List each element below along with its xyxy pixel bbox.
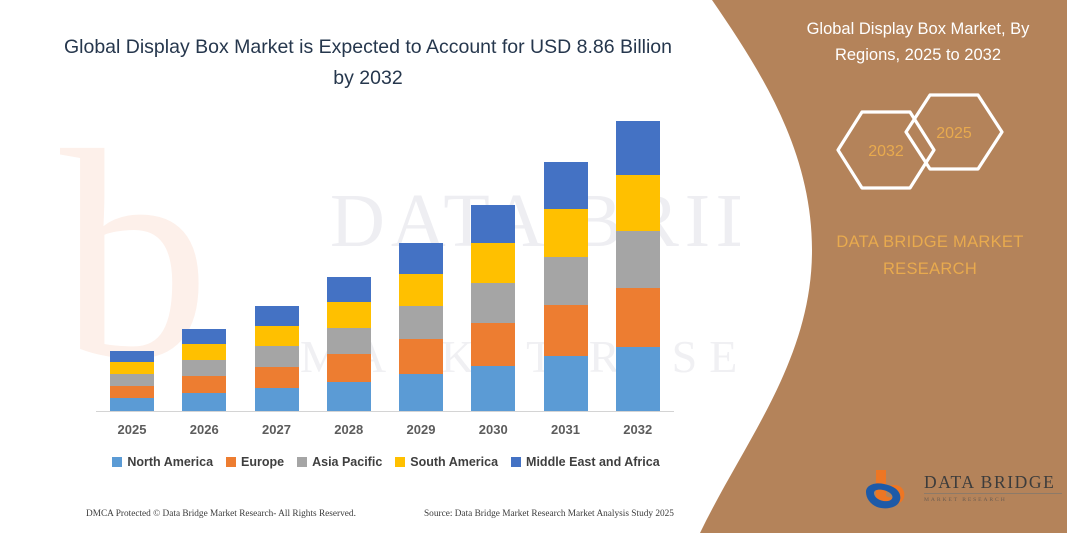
x-axis-labels: 20252026202720282029203020312032 — [96, 414, 674, 440]
x-tick-2027: 2027 — [241, 422, 313, 437]
plot-area — [96, 110, 674, 412]
x-tick-2026: 2026 — [168, 422, 240, 437]
legend-swatch-icon — [112, 457, 122, 467]
bar-segment-2028-middle-east-and-africa — [327, 277, 371, 302]
logo-mark-icon — [862, 468, 922, 514]
footer: DMCA Protected © Data Bridge Market Rese… — [0, 505, 700, 529]
bar-segment-2030-europe — [471, 323, 515, 366]
footer-source: Source: Data Bridge Market Research Mark… — [424, 509, 674, 519]
x-tick-2031: 2031 — [530, 422, 602, 437]
bar-segment-2026-south-america — [182, 344, 226, 360]
bar-segment-2026-asia-pacific — [182, 360, 226, 376]
bar-segment-2028-north-america — [327, 382, 371, 411]
bar-segment-2026-middle-east-and-africa — [182, 329, 226, 344]
legend-swatch-icon — [297, 457, 307, 467]
infographic-root: b DATA BRIDGE MARKET RESEARCH Global Dis… — [0, 0, 1067, 533]
page-title: Global Display Box Market is Expected to… — [62, 32, 674, 94]
bar-segment-2027-south-america — [255, 326, 299, 346]
bar-segment-2031-asia-pacific — [544, 257, 588, 306]
brand-line-1: DATA BRIDGE MARKET — [790, 229, 1067, 256]
bar-segment-2031-europe — [544, 305, 588, 356]
hex-2025-label: 2025 — [936, 125, 972, 142]
bar-segment-2027-middle-east-and-africa — [255, 306, 299, 326]
bar-2026 — [182, 329, 226, 411]
bar-segment-2030-middle-east-and-africa — [471, 205, 515, 244]
bar-segment-2031-north-america — [544, 356, 588, 411]
legend-label: Asia Pacific — [312, 455, 382, 469]
hexagon-group: 2032 2025 — [820, 88, 1020, 200]
brand-line-2: RESEARCH — [790, 256, 1067, 283]
bar-segment-2030-south-america — [471, 243, 515, 283]
bar-segment-2031-south-america — [544, 209, 588, 256]
bar-segment-2029-asia-pacific — [399, 306, 443, 339]
bar-segment-2025-north-america — [110, 398, 154, 411]
bar-segment-2026-north-america — [182, 393, 226, 411]
bar-2030 — [471, 205, 515, 411]
legend-item-middle-east-and-africa[interactable]: Middle East and Africa — [511, 455, 660, 469]
bar-segment-2027-asia-pacific — [255, 346, 299, 367]
bar-segment-2029-south-america — [399, 274, 443, 306]
bar-2032 — [616, 121, 660, 411]
bar-segment-2029-north-america — [399, 374, 443, 411]
bar-2028 — [327, 277, 371, 411]
bar-segment-2025-south-america — [110, 362, 154, 373]
bar-segment-2029-middle-east-and-africa — [399, 243, 443, 275]
logo-text: DATA BRIDGE MARKET RESEARCH — [924, 472, 1064, 504]
bar-2031 — [544, 162, 588, 411]
x-tick-2028: 2028 — [313, 422, 385, 437]
data-bridge-logo: DATA BRIDGE MARKET RESEARCH — [862, 468, 1062, 516]
legend-item-asia-pacific[interactable]: Asia Pacific — [297, 455, 382, 469]
bar-segment-2032-asia-pacific — [616, 231, 660, 288]
bar-segment-2032-south-america — [616, 175, 660, 230]
bar-segment-2030-asia-pacific — [471, 283, 515, 324]
footer-copyright: DMCA Protected © Data Bridge Market Rese… — [86, 509, 356, 519]
bar-segment-2032-north-america — [616, 347, 660, 411]
bar-segment-2028-europe — [327, 354, 371, 381]
legend-item-north-america[interactable]: North America — [112, 455, 213, 469]
stacked-bar-chart: 20252026202720282029203020312032 — [96, 110, 674, 420]
x-tick-2032: 2032 — [602, 422, 674, 437]
legend-swatch-icon — [226, 457, 236, 467]
bar-segment-2032-middle-east-and-africa — [616, 121, 660, 175]
legend-swatch-icon — [395, 457, 405, 467]
x-tick-2025: 2025 — [96, 422, 168, 437]
bar-segment-2026-europe — [182, 376, 226, 393]
bar-2027 — [255, 306, 299, 411]
legend-item-south-america[interactable]: South America — [395, 455, 498, 469]
bar-2029 — [399, 243, 443, 411]
legend-swatch-icon — [511, 457, 521, 467]
x-tick-2030: 2030 — [457, 422, 529, 437]
chart-legend: North AmericaEuropeAsia PacificSouth Ame… — [96, 455, 676, 469]
logo-sub-text: MARKET RESEARCH — [924, 496, 1064, 504]
right-panel-brand: DATA BRIDGE MARKET RESEARCH — [790, 229, 1067, 283]
bar-2025 — [110, 351, 154, 411]
hex-2032-label: 2032 — [868, 143, 904, 160]
logo-main-text: DATA BRIDGE — [924, 472, 1064, 492]
bar-segment-2025-asia-pacific — [110, 374, 154, 386]
legend-label: South America — [410, 455, 498, 469]
legend-label: Europe — [241, 455, 284, 469]
bar-segment-2027-europe — [255, 367, 299, 389]
legend-label: North America — [127, 455, 213, 469]
bar-segment-2030-north-america — [471, 366, 515, 411]
legend-label: Middle East and Africa — [526, 455, 660, 469]
bar-segment-2025-europe — [110, 386, 154, 398]
right-panel-title: Global Display Box Market, By Regions, 2… — [778, 16, 1058, 68]
bar-segment-2029-europe — [399, 339, 443, 374]
x-axis-line — [96, 411, 674, 412]
x-tick-2029: 2029 — [385, 422, 457, 437]
bar-segment-2028-asia-pacific — [327, 328, 371, 354]
bar-segment-2032-europe — [616, 288, 660, 348]
bar-segment-2028-south-america — [327, 302, 371, 328]
bar-segment-2027-north-america — [255, 388, 299, 411]
bar-segment-2025-middle-east-and-africa — [110, 351, 154, 362]
legend-item-europe[interactable]: Europe — [226, 455, 284, 469]
bar-segment-2031-middle-east-and-africa — [544, 162, 588, 209]
logo-divider — [924, 493, 1062, 494]
